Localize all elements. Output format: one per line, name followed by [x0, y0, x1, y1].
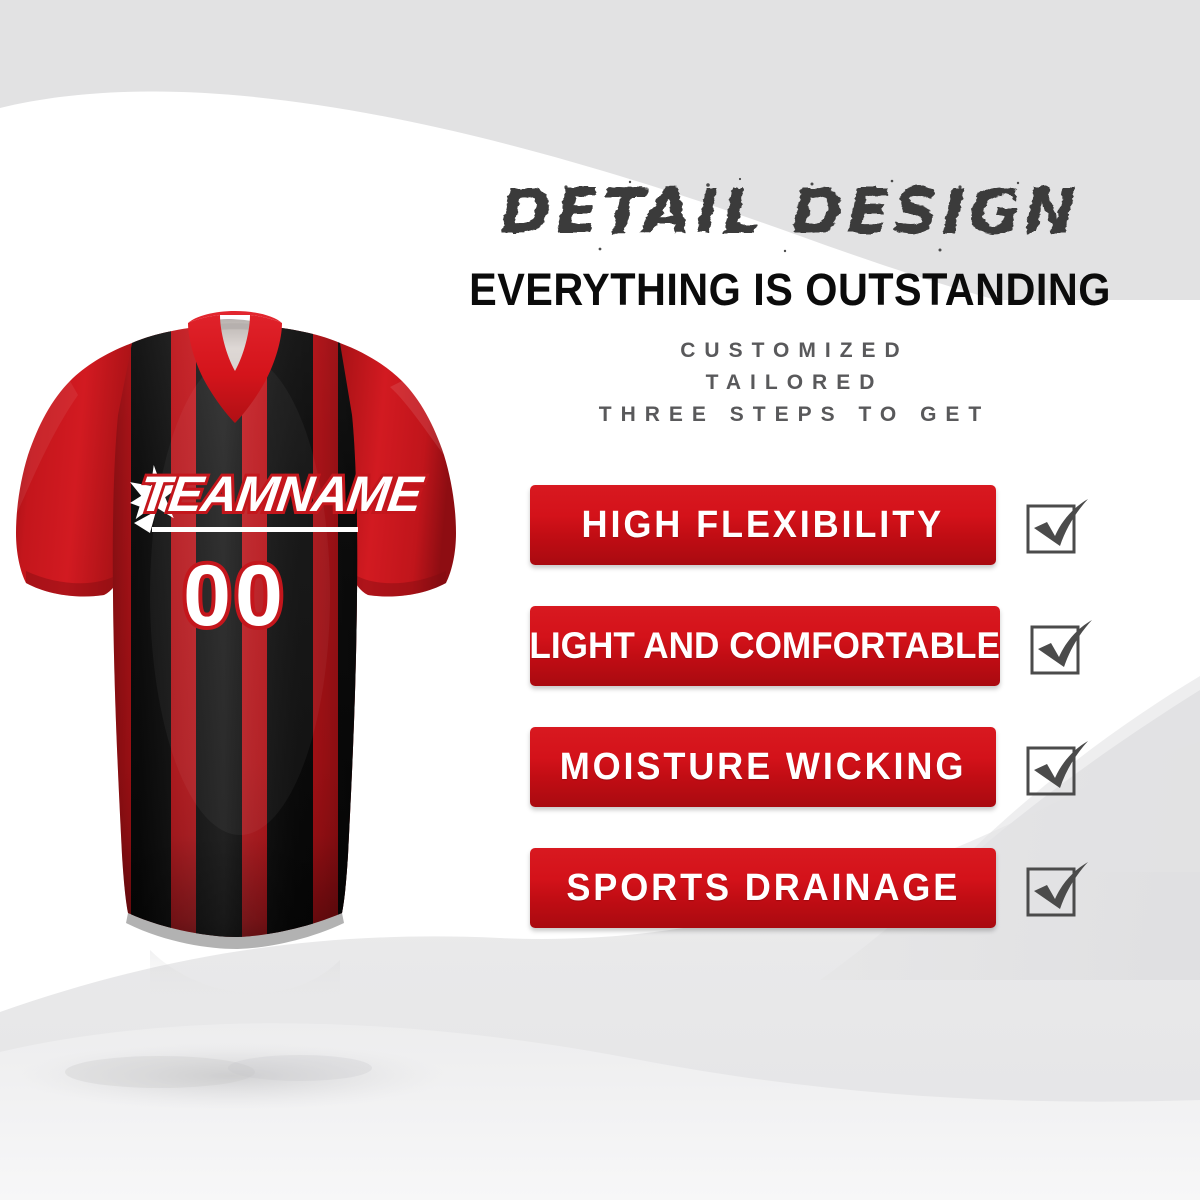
page-subtitle: EVERYTHING IS OUTSTANDING — [468, 266, 1112, 313]
feature-bar-moisture-wicking[interactable]: MOISTURE WICKING — [530, 727, 996, 807]
checkmark-icon — [1022, 732, 1092, 802]
feature-label: HIGH FLEXIBILITY — [582, 504, 944, 547]
product-image-jersey: TEAMNAME 00 — [0, 295, 470, 960]
svg-text:00: 00 — [183, 548, 287, 644]
headline-block: DETAIL DESIGN — [440, 165, 1140, 431]
page-title: DETAIL DESIGN — [440, 165, 1140, 260]
feature-bar-sports-drainage[interactable]: SPORTS DRAINAGE — [530, 848, 996, 928]
jersey-team-name-art: TEAMNAME — [136, 466, 427, 522]
content-column: DETAIL DESIGN — [430, 165, 1190, 1005]
tagline-line-2: TAILORED — [440, 367, 1140, 399]
feature-row: HIGH FLEXIBILITY — [530, 485, 1130, 565]
checkmark-icon — [1022, 490, 1092, 560]
feature-label: LIGHT AND COMFORTABLE — [530, 625, 1000, 667]
tagline-line-3: THREE STEPS TO GET — [440, 399, 1140, 431]
feature-row: SPORTS DRAINAGE — [530, 848, 1130, 928]
feature-bar-light-and-comfortable[interactable]: LIGHT AND COMFORTABLE — [530, 606, 1000, 686]
feature-list: HIGH FLEXIBILITY LIGHT AND COMFORTABLE — [530, 485, 1130, 928]
product-feature-banner: TEAMNAME 00 — [0, 0, 1200, 1200]
svg-text:DETAIL DESIGN: DETAIL DESIGN — [500, 175, 1080, 248]
tagline-block: CUSTOMIZED TAILORED THREE STEPS TO GET — [440, 335, 1140, 431]
feature-row: LIGHT AND COMFORTABLE — [530, 606, 1130, 686]
svg-text:TEAMNAME: TEAMNAME — [136, 466, 427, 522]
jersey-number-art: 00 — [183, 548, 287, 644]
feature-bar-high-flexibility[interactable]: HIGH FLEXIBILITY — [530, 485, 996, 565]
feature-label: MOISTURE WICKING — [560, 746, 967, 789]
checkmark-icon — [1022, 853, 1092, 923]
feature-label: SPORTS DRAINAGE — [566, 867, 960, 910]
feature-row: MOISTURE WICKING — [530, 727, 1130, 807]
checkmark-icon — [1026, 611, 1096, 681]
tagline-line-1: CUSTOMIZED — [440, 335, 1140, 367]
